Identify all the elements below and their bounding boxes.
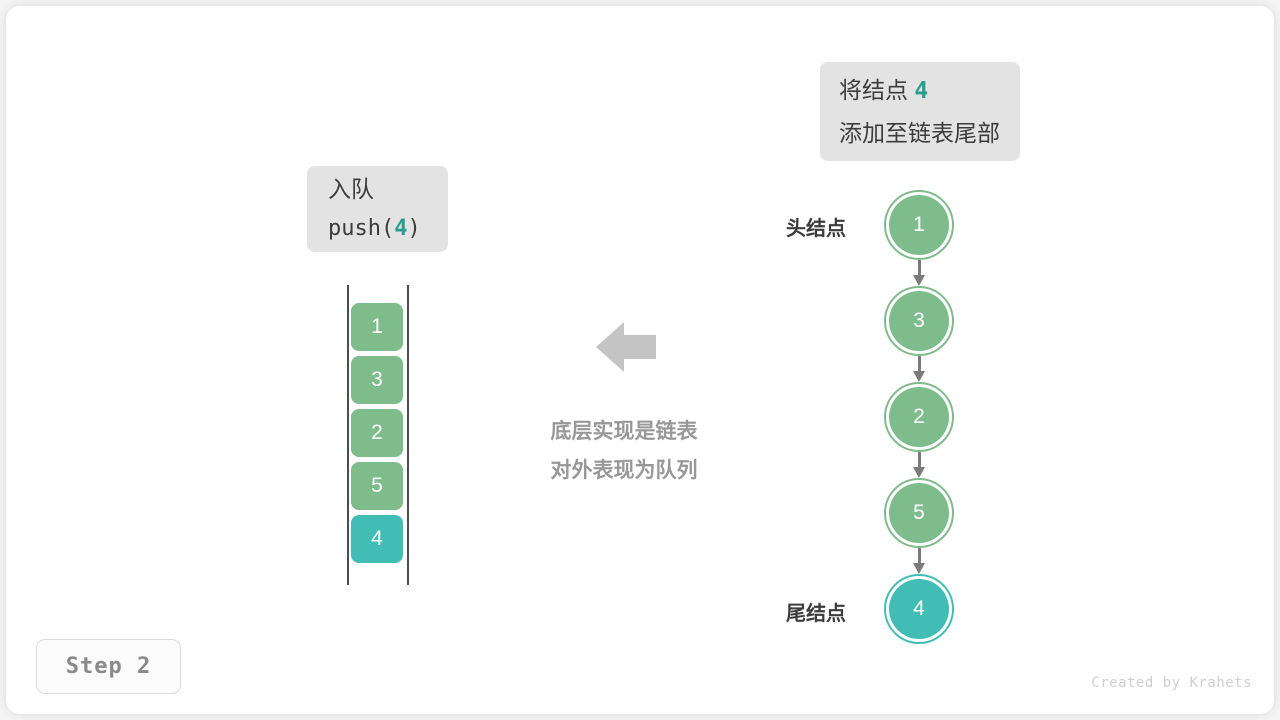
connector-arrowhead-icon	[913, 371, 925, 382]
queue-item: 5	[351, 462, 403, 510]
append-value: 4	[914, 78, 928, 104]
list-node-value: 1	[889, 195, 949, 255]
queue-item: 1	[351, 303, 403, 351]
node-connector-arrow	[915, 260, 923, 286]
callout-push-line2: push(4)	[328, 209, 448, 249]
push-suffix: )	[407, 216, 420, 241]
push-prefix: push(	[328, 216, 394, 241]
list-node: 2	[884, 382, 954, 452]
list-node: 5	[884, 478, 954, 548]
list-node-value: 4	[889, 579, 949, 639]
left-arrow-icon	[596, 318, 656, 376]
queue-column: 13254	[347, 285, 409, 585]
queue-item: 4	[351, 515, 403, 563]
queue-item-list: 13254	[351, 303, 403, 568]
list-node: 4	[884, 574, 954, 644]
list-node-value: 5	[889, 483, 949, 543]
step-badge: Step 2	[36, 639, 181, 694]
callout-push: 入队 push(4)	[307, 166, 448, 252]
watermark: Created by Krahets	[1091, 675, 1252, 691]
callout-push-line1: 入队	[328, 169, 448, 209]
callout-append-line1: 将结点 4	[839, 69, 1020, 112]
connector-arrowhead-icon	[913, 275, 925, 286]
list-node-value: 3	[889, 291, 949, 351]
list-node: 1	[884, 190, 954, 260]
append-prefix: 将结点	[839, 77, 914, 103]
diagram-canvas: 入队 push(4) 将结点 4 添加至链表尾部 13254 底层实现是链表 对…	[0, 0, 1280, 720]
list-node-value: 2	[889, 387, 949, 447]
node-connector-arrow	[915, 548, 923, 574]
push-value: 4	[394, 216, 407, 241]
queue-item: 2	[351, 409, 403, 457]
queue-rail-left	[347, 285, 349, 585]
linked-list: 13254	[884, 190, 956, 650]
center-note: 底层实现是链表 对外表现为队列	[476, 412, 772, 490]
connector-arrowhead-icon	[913, 563, 925, 574]
queue-item: 3	[351, 356, 403, 404]
head-node-label: 头结点	[786, 212, 846, 241]
tail-node-label: 尾结点	[786, 597, 846, 626]
list-node: 3	[884, 286, 954, 356]
callout-append-line2: 添加至链表尾部	[839, 112, 1020, 154]
connector-arrowhead-icon	[913, 467, 925, 478]
queue-rail-right	[407, 285, 409, 585]
center-note-line2: 对外表现为队列	[476, 451, 772, 490]
center-note-line1: 底层实现是链表	[476, 412, 772, 451]
node-connector-arrow	[915, 356, 923, 382]
callout-append: 将结点 4 添加至链表尾部	[820, 62, 1020, 161]
node-connector-arrow	[915, 452, 923, 478]
